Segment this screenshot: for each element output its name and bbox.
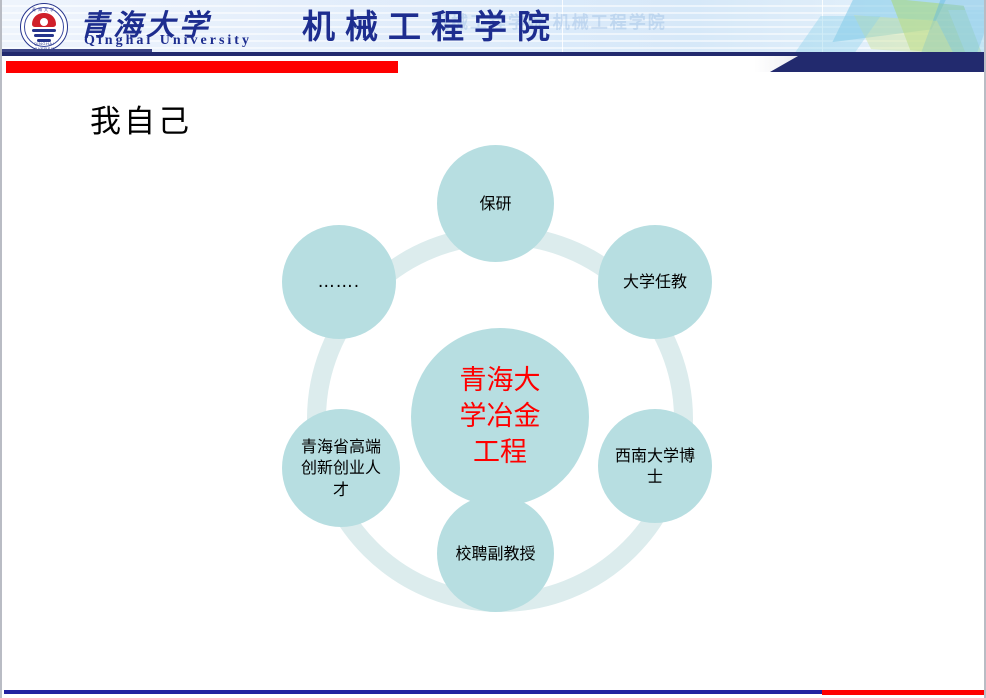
diagram-node-lower-right[interactable]: 西南大学博士 bbox=[598, 409, 712, 523]
diagram-node-lower-left-label: 青海省高端创新创业人才 bbox=[298, 436, 384, 499]
header-navy-rule bbox=[2, 52, 986, 56]
red-accent-bar bbox=[6, 61, 398, 73]
university-seal-icon: 青海大学 QINGHAI UNIVERSITY bbox=[20, 3, 68, 51]
diagram-node-lower-right-label: 西南大学博士 bbox=[615, 445, 695, 487]
page-title: 我自己 bbox=[90, 96, 192, 141]
diagram-node-upper-left-label: ……. bbox=[295, 271, 383, 293]
diagram-center-node[interactable]: 青海大学冶金工程 bbox=[411, 328, 589, 506]
seal-wave-1 bbox=[32, 29, 56, 32]
diagram-node-upper-right[interactable]: 大学任教 bbox=[598, 225, 712, 339]
footer-red-accent bbox=[822, 690, 986, 695]
diagram-node-bottom-label: 校聘副教授 bbox=[455, 543, 537, 564]
header-banner: 机械工程学院 机械工程学院 青海大学 QINGHAI UNIVERSITY 青海… bbox=[2, 0, 986, 52]
university-name-english: Qinghai University bbox=[84, 33, 252, 49]
diagram-node-upper-right-label: 大学任教 bbox=[613, 271, 697, 292]
cycle-diagram: 青海大学冶金工程 保研 大学任教 西南大学博士 校聘副教授 青海省高端创新创业人… bbox=[250, 120, 750, 630]
navy-angled-band bbox=[770, 56, 986, 72]
diagram-node-bottom[interactable]: 校聘副教授 bbox=[437, 495, 554, 612]
college-name-chinese: 机械工程学院 bbox=[302, 0, 560, 48]
diagram-center-node-label: 青海大学冶金工程 bbox=[448, 363, 552, 472]
presentation-slide: 机械工程学院 机械工程学院 青海大学 QINGHAI UNIVERSITY 青海… bbox=[0, 0, 986, 698]
diagram-node-top-label: 保研 bbox=[456, 193, 536, 214]
diagram-node-upper-left[interactable]: ……. bbox=[282, 225, 396, 339]
seal-wave-2 bbox=[34, 34, 54, 37]
diagram-node-top[interactable]: 保研 bbox=[437, 145, 554, 262]
seal-red-arc-notch bbox=[40, 18, 48, 26]
diagram-node-lower-left[interactable]: 青海省高端创新创业人才 bbox=[282, 409, 400, 527]
